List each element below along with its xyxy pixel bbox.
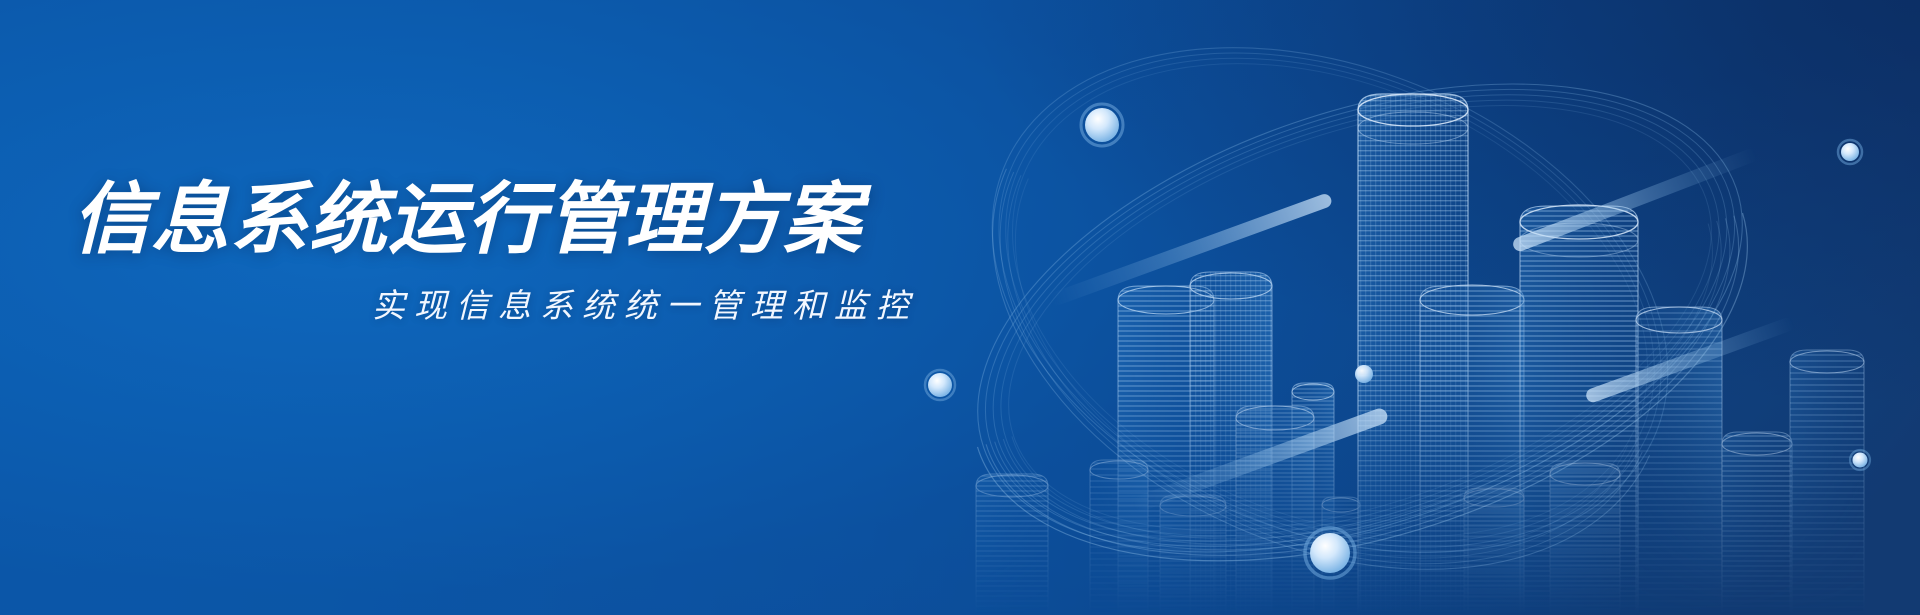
glow-dot — [1085, 108, 1119, 142]
wireframe-city-skyline — [860, 0, 1920, 615]
building-tower-wireframe — [976, 474, 1048, 615]
building-group — [976, 94, 1864, 615]
banner-title: 信息系统运行管理方案 — [72, 178, 932, 261]
building-tower-wireframe — [1550, 463, 1620, 615]
building-tower-wireframe — [1722, 432, 1792, 615]
banner-text-block: 信息系统运行管理方案 实现信息系统统一管理和监控 — [72, 178, 932, 327]
glow-dot — [1355, 365, 1373, 383]
building-tower-wireframe — [1464, 488, 1524, 615]
glow-dot — [1841, 143, 1859, 161]
banner-root: 信息系统运行管理方案 实现信息系统统一管理和监控 — [0, 0, 1920, 615]
glow-dot — [1310, 533, 1350, 573]
banner-subtitle: 实现信息系统统一管理和监控 — [72, 279, 932, 327]
glow-dot — [1853, 453, 1868, 468]
glow-dot — [928, 373, 952, 397]
building-tower-wireframe — [1790, 350, 1864, 615]
